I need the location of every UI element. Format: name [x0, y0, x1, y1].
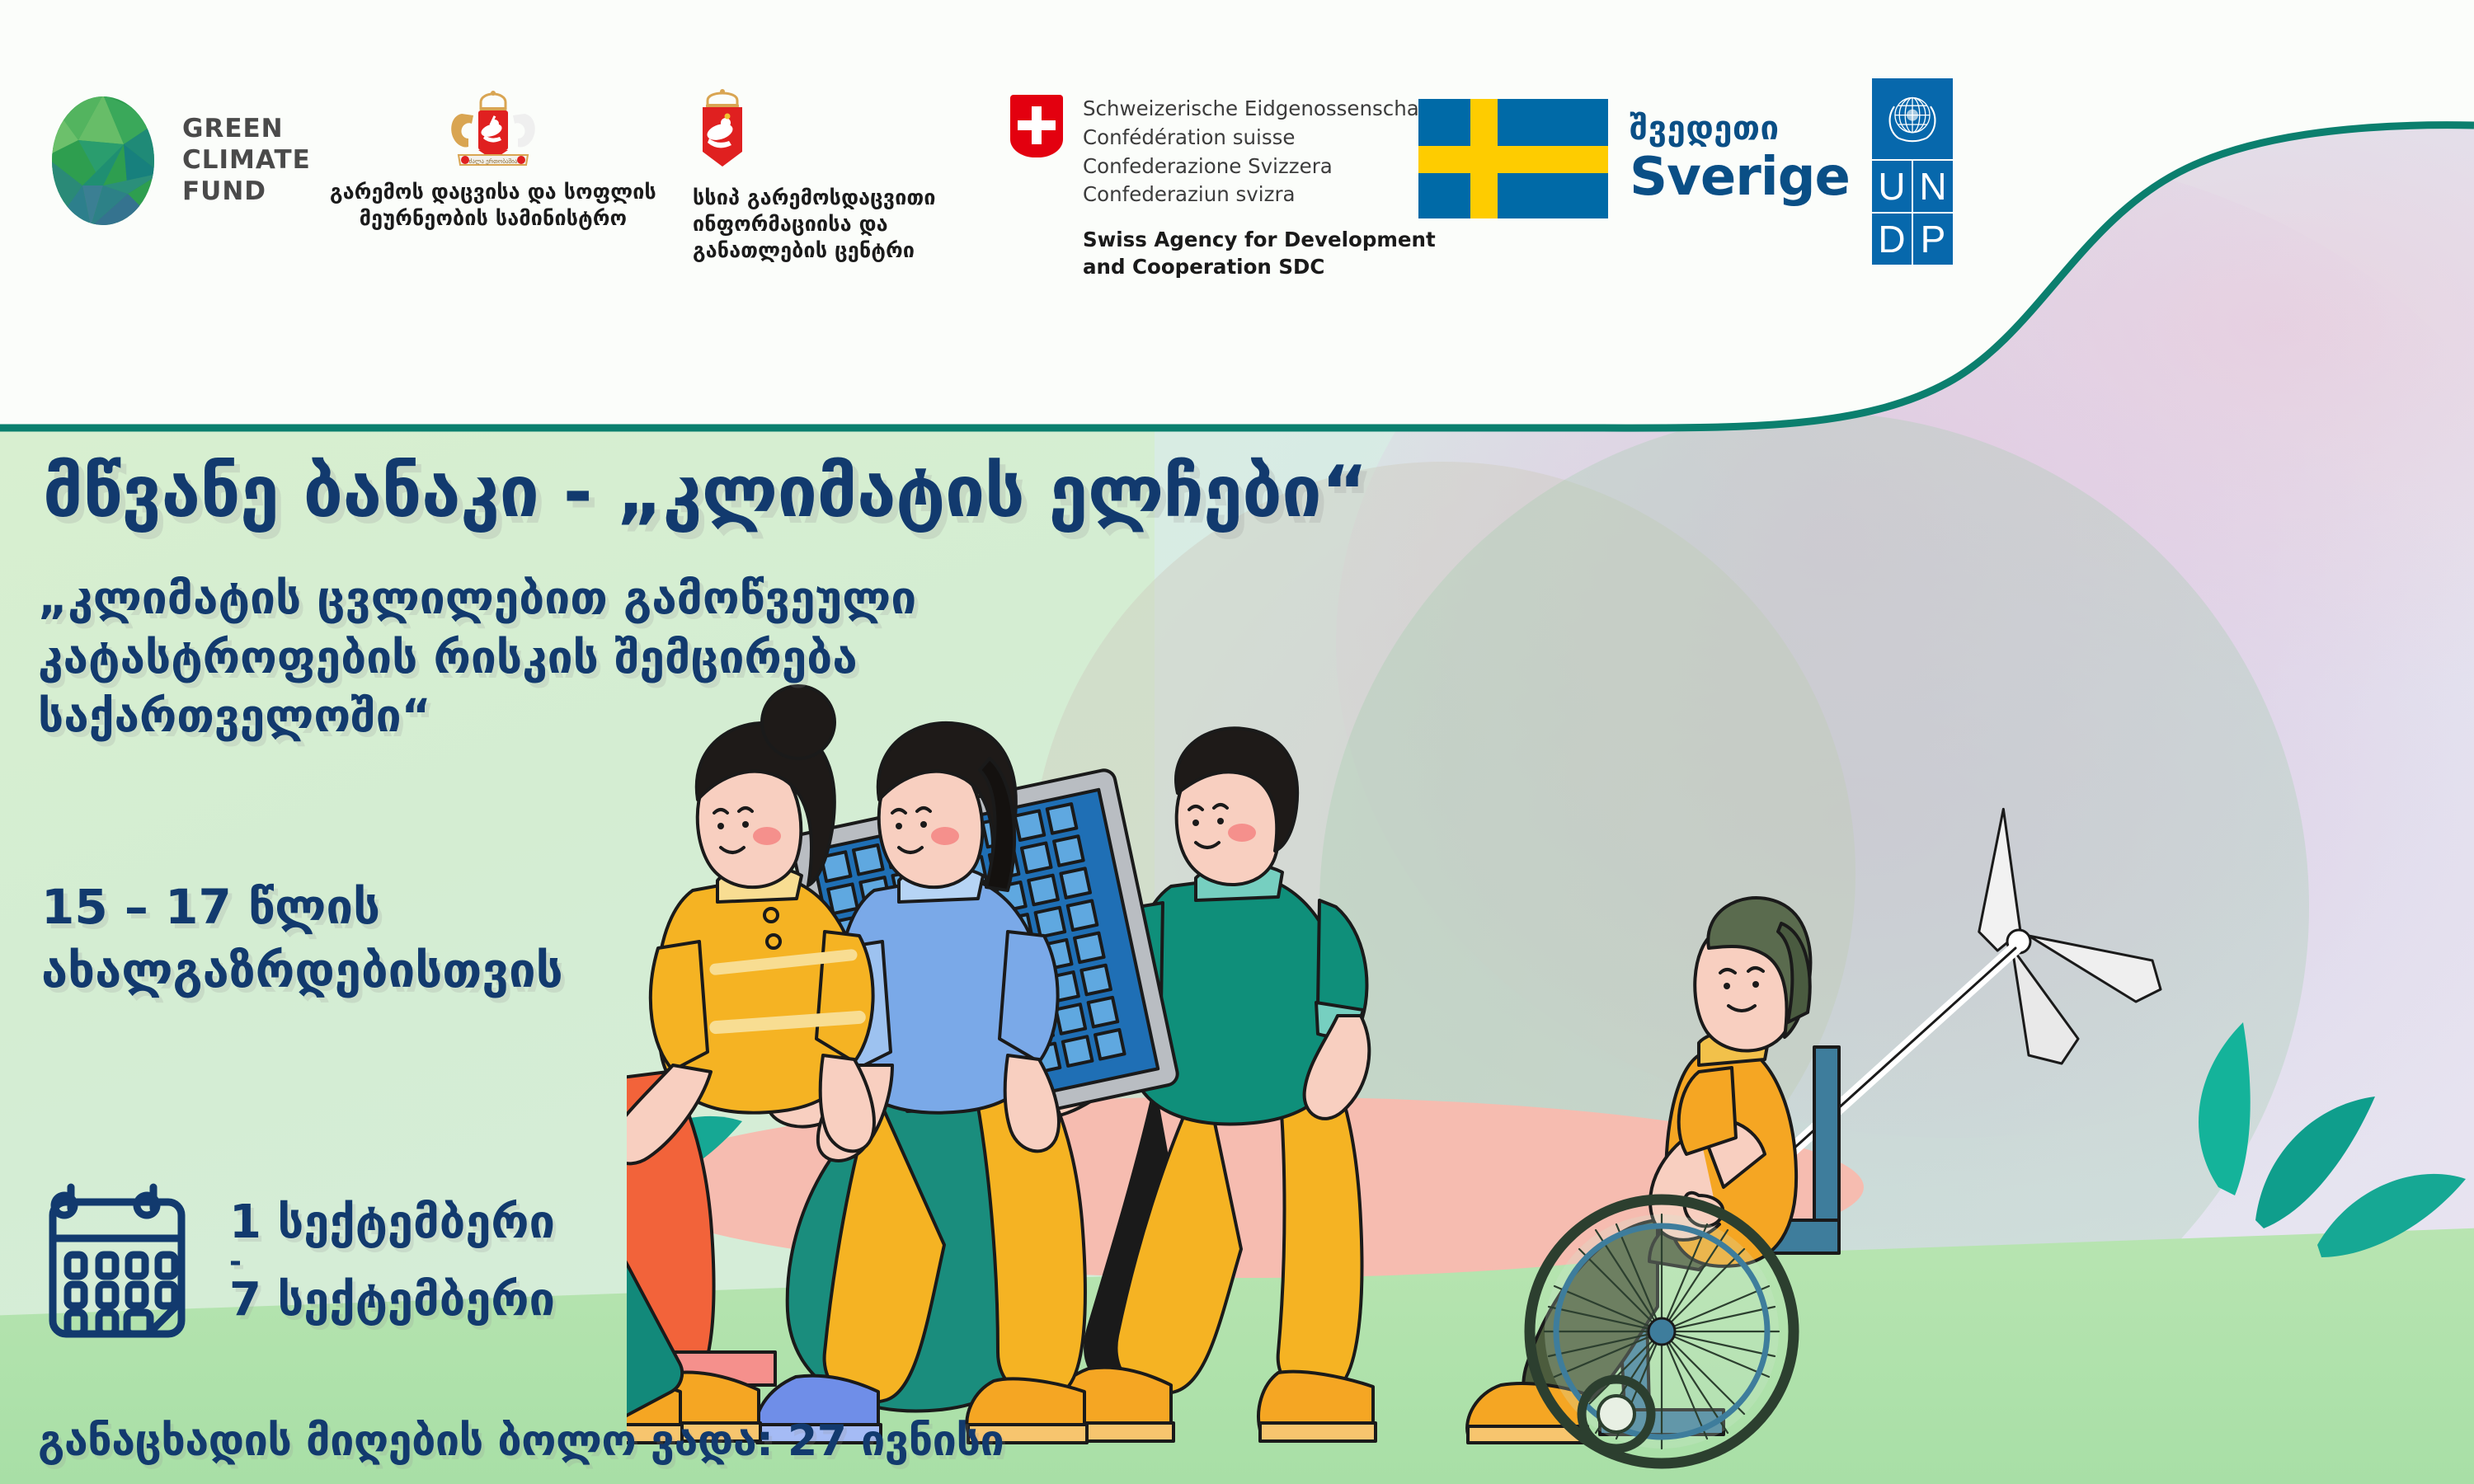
event-dates: 1 სექტემბერი - 7 სექტემბერი — [229, 1197, 555, 1327]
poster-root: GREEN CLIMATE FUND — [0, 0, 2474, 1484]
event-end-date: 7 სექტემბერი — [229, 1275, 555, 1327]
subtitle-line-3: საქართველოში“ — [38, 687, 1357, 746]
age-audience: ახალგაზრდებისთვის — [41, 939, 1031, 1003]
page-title: მწვანე ბანაკი - „კლიმატის ელჩები“ — [43, 455, 1816, 529]
subtitle-line-2: კატასტროფების რისკის შემცირება — [38, 628, 1357, 688]
application-deadline: განაცხადის მიღების ბოლო ვადა: 27 ივნისი — [38, 1416, 1004, 1466]
calendar-icon — [43, 1179, 198, 1344]
age-requirement: 15 – 17 წლის ახალგაზრდებისთვის — [41, 876, 1031, 1002]
subtitle-line-1: „კლიმატის ცვლილებით გამოწვეული — [38, 569, 1357, 628]
poster-content: მწვანე ბანაკი - „კლიმატის ელჩები“ „კლიმა… — [0, 0, 2474, 1484]
event-start-date: 1 სექტემბერი — [229, 1197, 555, 1249]
age-range: 15 – 17 წლის — [41, 876, 1031, 939]
event-dates-block: 1 სექტემბერი - 7 სექტემბერი — [43, 1179, 555, 1344]
event-date-separator: - — [229, 1252, 555, 1272]
project-subtitle: „კლიმატის ცვლილებით გამოწვეული კატასტროფ… — [38, 569, 1357, 746]
